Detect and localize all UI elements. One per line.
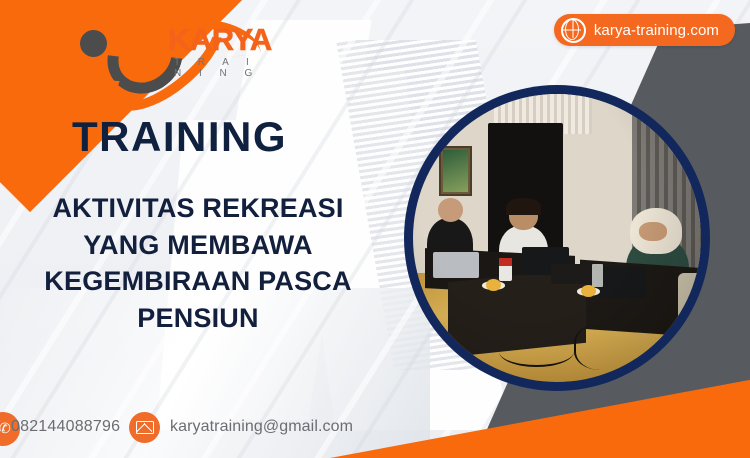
phone-number[interactable]: 082144088796 — [11, 418, 120, 436]
email-address[interactable]: karyatraining@gmail.com — [170, 418, 353, 436]
title-line-1: AKTIVITAS REKREASI — [0, 190, 396, 227]
eyebrow-training: TRAINING — [72, 116, 287, 158]
envelope-icon — [129, 412, 160, 443]
logo-tagline: T R A I N I N G — [174, 57, 278, 79]
title-line-4: PENSIUN — [0, 300, 396, 337]
karya-logo[interactable]: KARYA T R A I N I N G — [78, 14, 278, 74]
training-poster: KARYA T R A I N I N G karya-training.com… — [0, 0, 750, 458]
photo-circle-ring — [404, 85, 710, 391]
contact-footer: ✆ 082144088796 karyatraining@gmail.com — [0, 400, 750, 458]
logo-wordmark: KARYA — [168, 24, 272, 55]
training-photo — [413, 94, 701, 382]
title-line-3: KEGEMBIRAAN PASCA — [0, 263, 396, 300]
title-line-2: YANG MEMBAWA — [0, 227, 396, 264]
website-badge[interactable]: karya-training.com — [554, 14, 735, 46]
page-title: AKTIVITAS REKREASI YANG MEMBAWA KEGEMBIR… — [0, 190, 396, 337]
logo-head-dot-icon — [80, 30, 107, 57]
globe-icon — [561, 18, 586, 43]
website-url-text: karya-training.com — [594, 22, 719, 39]
